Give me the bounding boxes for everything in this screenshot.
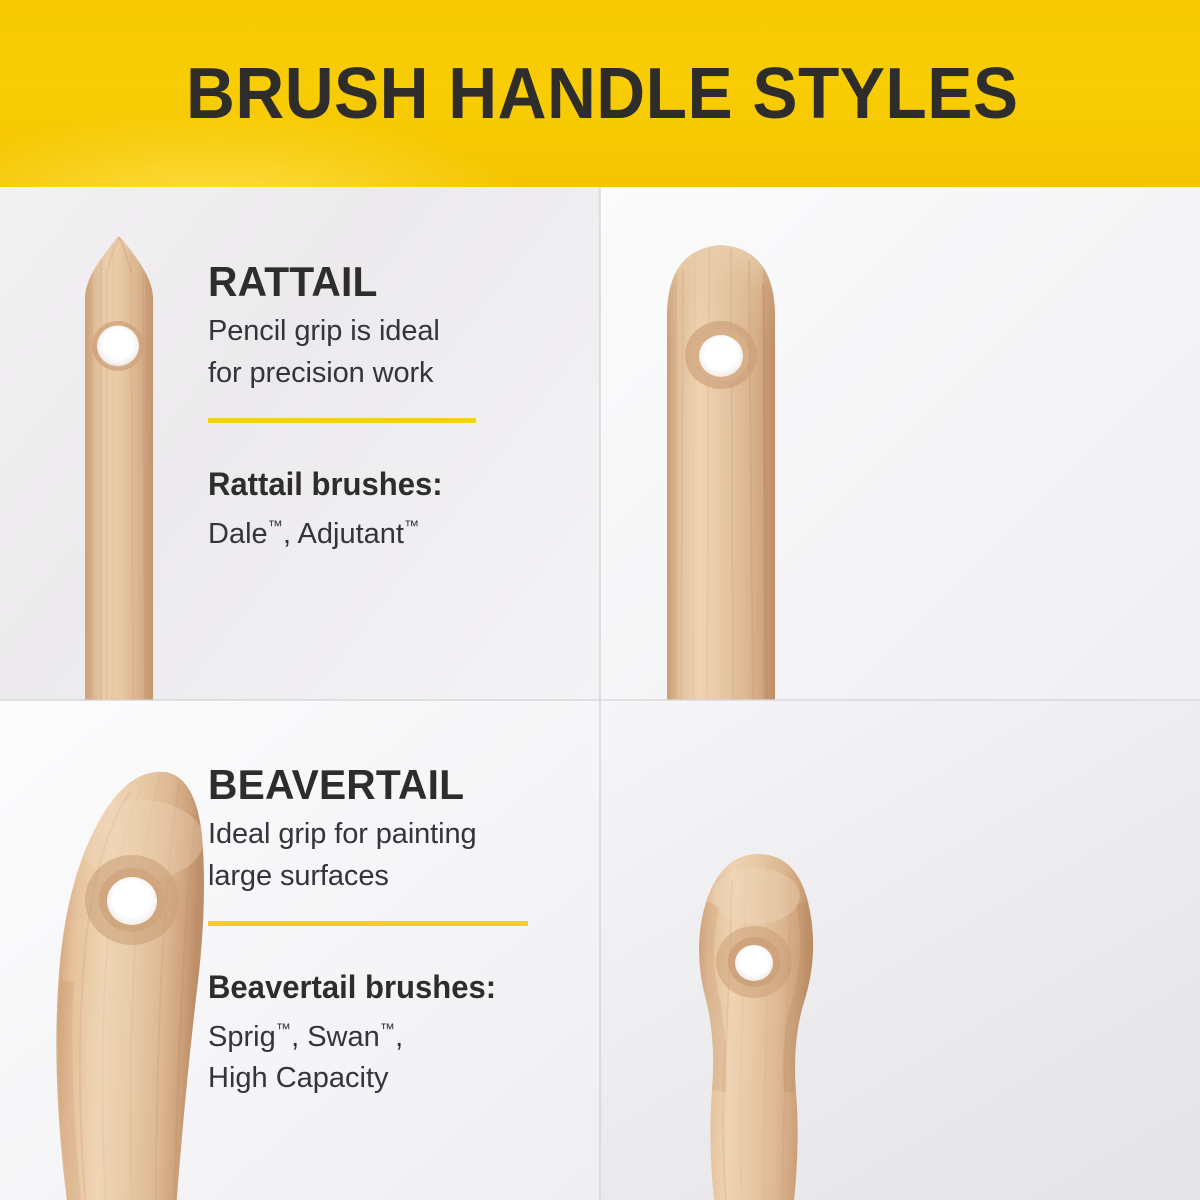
rattail-handle-icon (55, 209, 185, 700)
beavertail-brushes-line-1-tail: , (395, 1021, 403, 1053)
beavertail-brush-1: Sprig (208, 1021, 276, 1053)
rattail-description-line-2: for precision work (208, 352, 568, 394)
rattail-brushes-line-1: Dale™, Adjutant™ (208, 506, 568, 555)
rattail-description: Pencil grip is ideal for precision work (208, 310, 568, 394)
beavertail-brushes-list: Sprig™, Swan™, High Capacity (208, 1009, 583, 1099)
beavertail-text-block: BEAVERTAIL Ideal grip for painting large… (208, 762, 583, 1099)
short-handle-icon (640, 840, 860, 1200)
rattail-description-line-1: Pencil grip is ideal (208, 310, 568, 352)
header-banner: BRUSH HANDLE STYLES (0, 0, 1200, 187)
beavertail-brushes-label: Beavertail brushes: (208, 969, 572, 1005)
page-title: BRUSH HANDLE STYLES (186, 57, 1018, 131)
rattail-accent-rule (208, 418, 476, 423)
beavertail-brushes-line-2: High Capacity (208, 1058, 583, 1099)
trademark-icon: ™ (268, 518, 283, 535)
beavertail-style-name: BEAVERTAIL (208, 762, 572, 808)
rattail-brush-1: Dale (208, 518, 268, 550)
rattail-brushes-label: Rattail brushes: (208, 466, 557, 502)
beavertail-brush-2: , Swan (291, 1021, 380, 1053)
panel-fluted[interactable]: FLUTED Rests easily in your hand Fluted … (600, 187, 1200, 700)
panel-grid: RATTAIL Pencil grip is ideal for precisi… (0, 187, 1200, 1200)
panel-beavertail[interactable]: BEAVERTAIL Ideal grip for painting large… (0, 700, 600, 1200)
beavertail-brushes-line-1: Sprig™, Swan™, (208, 1009, 583, 1058)
trademark-icon: ™ (404, 518, 419, 535)
trademark-icon: ™ (276, 1021, 291, 1038)
infographic-root: BRUSH HANDLE STYLES (0, 0, 1200, 1200)
vertical-divider (599, 187, 601, 1200)
rattail-style-name: RATTAIL (208, 259, 557, 305)
beavertail-description-line-2: large surfaces (208, 855, 583, 897)
rattail-text-block: RATTAIL Pencil grip is ideal for precisi… (208, 259, 568, 555)
beavertail-description-line-1: Ideal grip for painting (208, 813, 583, 855)
panel-short[interactable]: SHORT Handle won’t get in the way when p… (600, 700, 1200, 1200)
beavertail-handle-icon (0, 730, 240, 1200)
rattail-brush-2: , Adjutant (283, 518, 404, 550)
trademark-icon: ™ (380, 1021, 395, 1038)
rattail-brushes-list: Dale™, Adjutant™ (208, 506, 568, 555)
beavertail-description: Ideal grip for painting large surfaces (208, 813, 583, 897)
beavertail-accent-rule (208, 921, 528, 926)
fluted-handle-icon (645, 209, 835, 700)
horizontal-divider (0, 699, 1200, 701)
panel-rattail[interactable]: RATTAIL Pencil grip is ideal for precisi… (0, 187, 600, 700)
